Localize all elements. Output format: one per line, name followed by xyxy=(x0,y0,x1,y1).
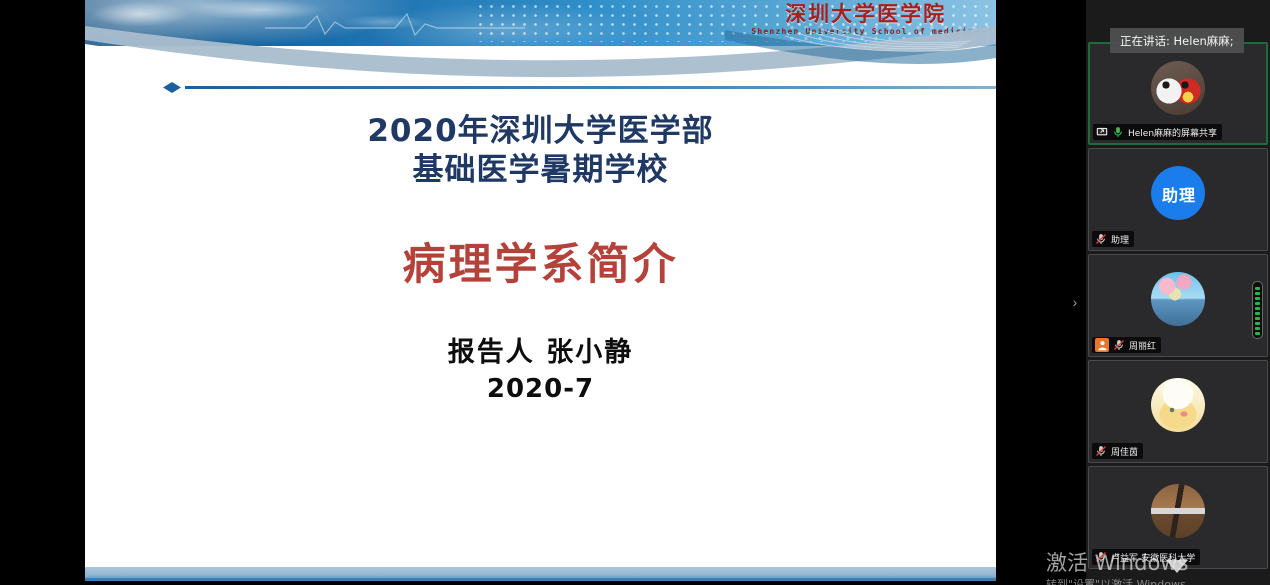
microphone-muted-icon xyxy=(1095,445,1107,457)
avatar xyxy=(1151,378,1205,432)
slide-title: 2020年深圳大学医学部 基础医学暑期学校 xyxy=(85,112,996,190)
microphone-muted-icon xyxy=(1095,551,1107,563)
avatar-initials: 助理 xyxy=(1151,166,1205,220)
participants-filmstrip[interactable]: Helen麻麻的屏幕共享 助理 助理 xyxy=(1086,0,1270,585)
screen-share-icon xyxy=(1096,126,1108,138)
active-speaker-tooltip: 正在讲话: Helen麻麻; xyxy=(1110,28,1244,53)
participant-name: 周丽红 xyxy=(1129,339,1156,352)
participant-name: Helen麻麻的屏幕共享 xyxy=(1128,126,1217,139)
participant-nameplate: Helen麻麻的屏幕共享 xyxy=(1093,124,1222,140)
avatar xyxy=(1151,61,1205,115)
slide-banner: 深圳大学医学院 Shenzhen University School of me… xyxy=(85,0,996,46)
slide-title-line-2: 基础医学暑期学校 xyxy=(85,151,996,190)
slide-title-line-1: 2020年深圳大学医学部 xyxy=(85,112,996,151)
participant-tile[interactable]: 周佳茵 xyxy=(1088,360,1268,463)
slide-presenter: 报告人 张小静 xyxy=(85,336,996,371)
avatar xyxy=(1151,484,1205,538)
slide-headline: 病理学系简介 xyxy=(85,230,996,292)
slide-footer-band xyxy=(85,567,996,581)
participant-nameplate: 助理 xyxy=(1092,231,1134,247)
avatar xyxy=(1151,272,1205,326)
audio-level-meter xyxy=(1252,281,1263,339)
participant-tile[interactable]: 卢益军-安徽医科大学 xyxy=(1088,466,1268,569)
slide-rule xyxy=(163,82,996,94)
presentation-slide: 深圳大学医学院 Shenzhen University School of me… xyxy=(85,0,996,581)
microphone-muted-icon xyxy=(1095,233,1107,245)
participant-tile[interactable]: Helen麻麻的屏幕共享 xyxy=(1088,42,1268,145)
microphone-unmuted-icon xyxy=(1112,126,1124,138)
active-speaker-tooltip-text: 正在讲话: Helen麻麻; xyxy=(1120,33,1234,49)
university-logo: 深圳大学医学院 Shenzhen University School of me… xyxy=(751,4,980,36)
raise-hand-icon xyxy=(1095,338,1109,352)
collapse-participants-panel-button[interactable]: › xyxy=(1064,288,1086,316)
participant-name: 助理 xyxy=(1111,233,1129,246)
participant-nameplate: 周佳茵 xyxy=(1092,443,1143,459)
avatar: 助理 xyxy=(1151,166,1205,220)
dropdown-caret-icon xyxy=(1166,560,1188,573)
participant-name: 周佳茵 xyxy=(1111,445,1138,458)
chevron-right-icon: › xyxy=(1073,294,1078,310)
participant-nameplate: 周丽红 xyxy=(1092,337,1161,353)
participant-tile[interactable]: 周丽红 xyxy=(1088,254,1268,357)
participant-tile[interactable]: 助理 助理 xyxy=(1088,148,1268,251)
microphone-muted-icon xyxy=(1113,339,1125,351)
app-root: 深圳大学医学院 Shenzhen University School of me… xyxy=(0,0,1270,585)
shared-screen-viewport[interactable]: 深圳大学医学院 Shenzhen University School of me… xyxy=(0,0,1080,585)
horizontal-rule xyxy=(185,86,996,89)
slide-date: 2020-7 xyxy=(85,374,996,404)
logo-chinese-name: 深圳大学医学院 xyxy=(751,4,980,25)
logo-english-name: Shenzhen University School of medicine xyxy=(751,28,980,36)
diamond-bullet-icon xyxy=(163,82,181,93)
